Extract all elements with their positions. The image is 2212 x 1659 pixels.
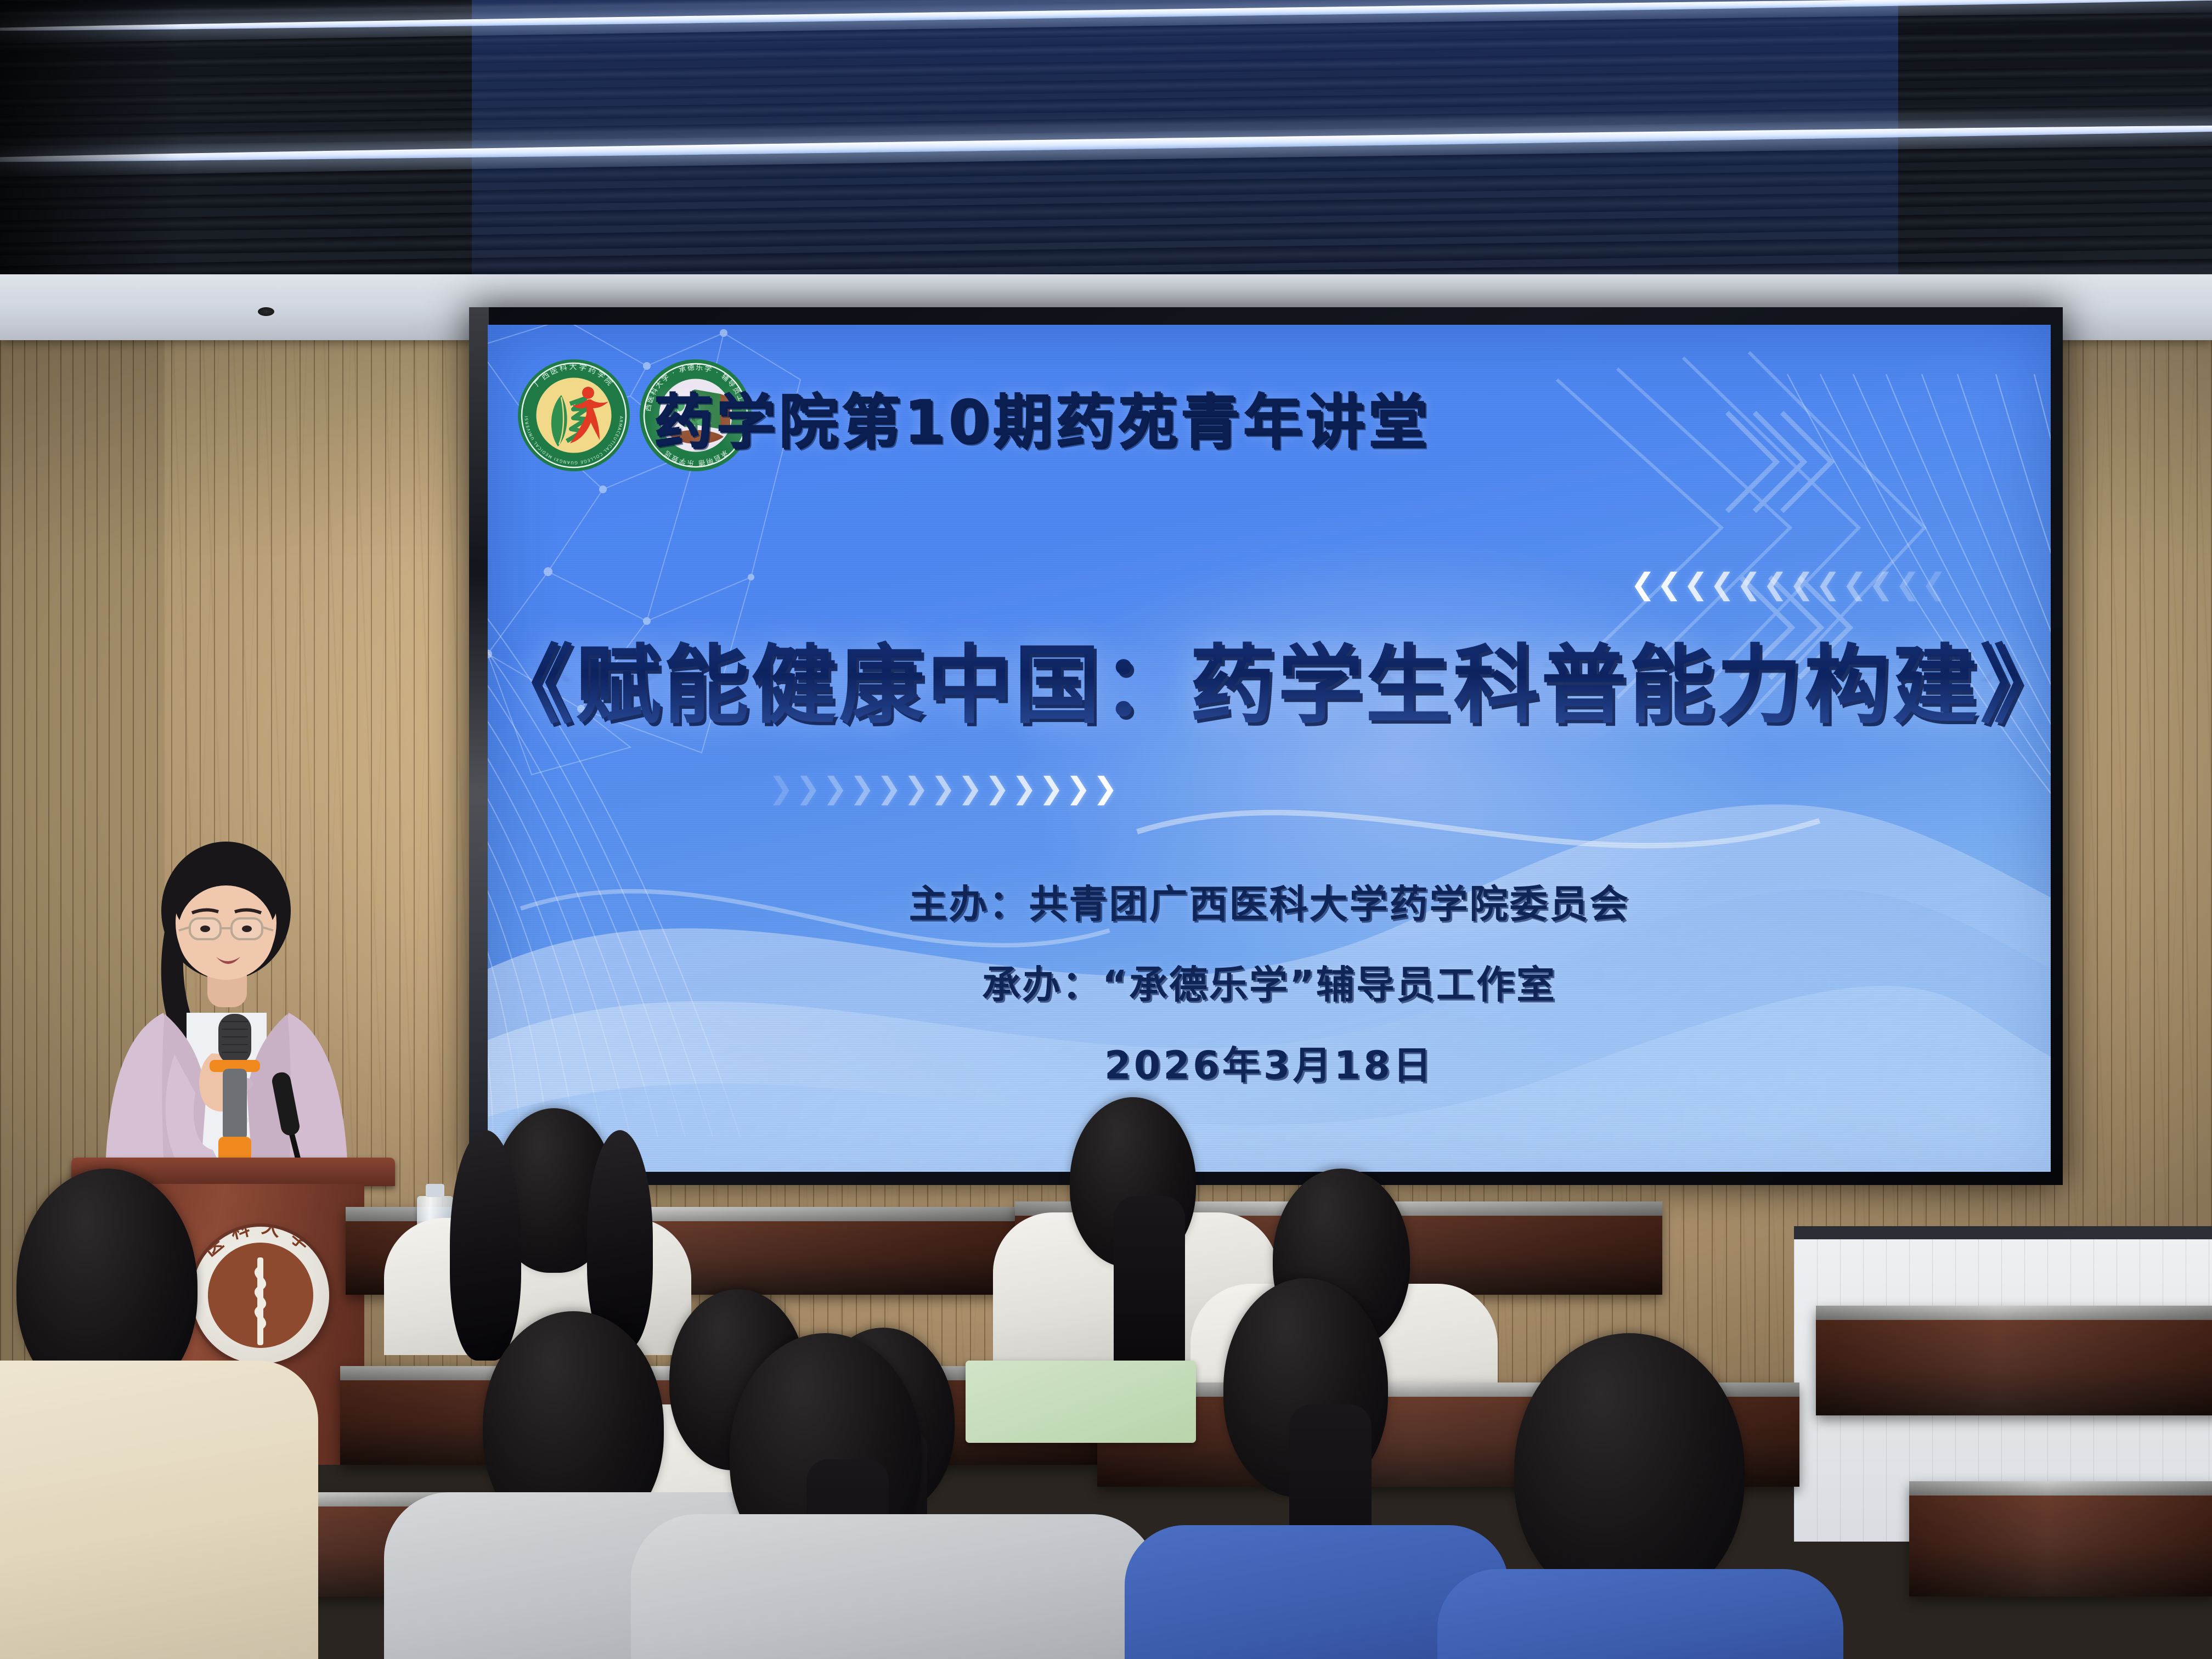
chevron-left-icon: ❮ <box>1710 569 1735 599</box>
chevron-right-icon: ❯ <box>958 774 983 803</box>
pharmacy-college-emblem: 广西医科大学药学院 PHARMACEUTICAL COLLEGE GUANGXI… <box>516 358 631 473</box>
chevron-right-decor-row: ❯❯❯❯❯❯❯❯❯❯❯❯❯ <box>769 774 1118 803</box>
slide-organizer-line: 主办：共青团广西医科大学药学院委员会 <box>488 873 2051 929</box>
ceiling-shadow <box>0 0 181 307</box>
chevron-left-icon: ❮ <box>1895 569 1920 599</box>
desk-right-empty-upper <box>1816 1306 2212 1415</box>
slide-footer-block: 主办：共青团广西医科大学药学院委员会 承办：“承德乐学”辅导员工作室 2026年… <box>488 873 2051 1090</box>
chevron-left-icon: ❮ <box>1736 569 1761 599</box>
chevron-right-icon: ❯ <box>850 774 874 803</box>
slide-main-title: 《赋能健康中国：药学生科普能力构建》 <box>488 616 2051 740</box>
green-folder <box>966 1361 1196 1443</box>
chevron-right-icon: ❯ <box>769 774 793 803</box>
led-screen-bezel: 广西医科大学药学院 PHARMACEUTICAL COLLEGE GUANGXI… <box>469 307 2063 1185</box>
chevron-right-icon: ❯ <box>904 774 928 803</box>
wall-baseboard <box>1794 1226 2212 1239</box>
desk-shading <box>1909 1481 2212 1596</box>
chevron-left-icon: ❮ <box>1790 569 1814 599</box>
chevron-right-icon: ❯ <box>1093 774 1118 803</box>
audience-hair <box>450 1130 521 1361</box>
desk-right-empty-lower <box>1909 1481 2212 1596</box>
chevron-right-icon: ❯ <box>1039 774 1064 803</box>
chevron-left-icon: ❮ <box>1816 569 1841 599</box>
bottle-cap <box>426 1184 444 1197</box>
foreground-head <box>1514 1333 1745 1607</box>
rod-of-asclepius-icon <box>257 1257 263 1345</box>
chevron-left-icon: ❮ <box>1763 569 1787 599</box>
ceiling-blue-reflection <box>472 0 1898 307</box>
chevron-right-icon: ❯ <box>1066 774 1091 803</box>
slide-date-line: 2026年3月18日 <box>488 1035 2051 1090</box>
chevron-right-icon: ❯ <box>877 774 901 803</box>
chevron-right-icon: ❯ <box>931 774 956 803</box>
chevron-right-icon: ❯ <box>795 774 820 803</box>
chevron-right-icon: ❯ <box>985 774 1009 803</box>
chevron-left-icon: ❮ <box>1842 569 1867 599</box>
chevron-right-icon: ❯ <box>1012 774 1036 803</box>
chevron-right-icon: ❯ <box>823 774 848 803</box>
led-screen: 广西医科大学药学院 PHARMACEUTICAL COLLEGE GUANGXI… <box>488 325 2051 1172</box>
university-emblem-plaque: 医科大学 <box>192 1227 329 1364</box>
ceiling <box>0 0 2212 307</box>
slide-header-title: 药学院第10期药苑青年讲堂 <box>653 374 1430 460</box>
chevron-left-icon: ❮ <box>1657 569 1681 599</box>
chevron-left-icon: ❮ <box>1630 569 1655 599</box>
recessed-downlight-icon <box>258 307 274 316</box>
bezel-highlight <box>469 307 489 1185</box>
chevron-left-icon: ❮ <box>1922 569 1946 599</box>
lecture-hall-photo: 广西医科大学药学院 PHARMACEUTICAL COLLEGE GUANGXI… <box>0 0 2212 1659</box>
blue-jacket-torso <box>1437 1569 1843 1659</box>
hoodie-torso <box>631 1514 1158 1659</box>
desk-shading <box>1816 1306 2212 1415</box>
chevron-left-icon: ❮ <box>1684 569 1708 599</box>
slide-coorganizer-line: 承办：“承德乐学”辅导员工作室 <box>488 954 2051 1009</box>
chevron-left-icon: ❮ <box>1869 569 1893 599</box>
foreground-torso <box>0 1361 318 1659</box>
chevron-left-decor-row: ❮❮❮❮❮❮❮❮❮❮❮❮ <box>1630 569 1946 599</box>
